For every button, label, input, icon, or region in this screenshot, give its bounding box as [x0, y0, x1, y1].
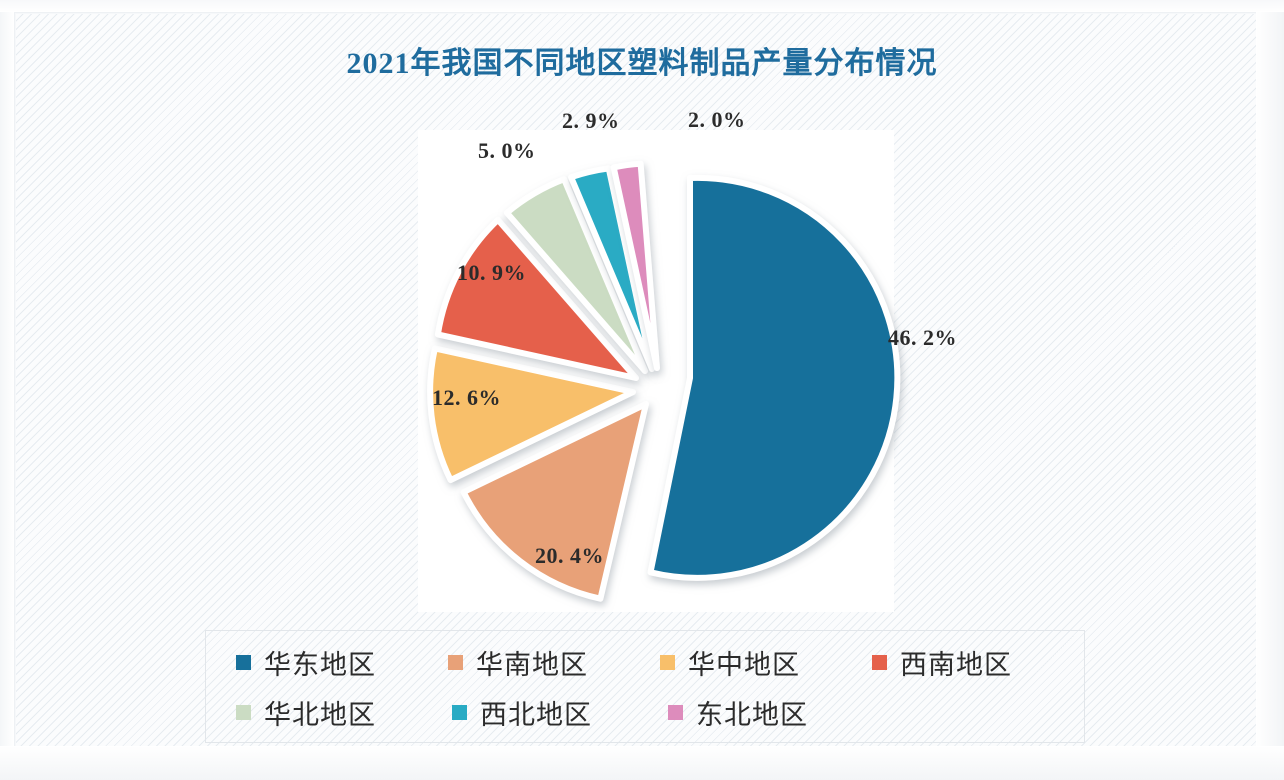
slice-label-huanan: 20. 4%	[535, 543, 604, 569]
legend-label: 华东地区	[264, 643, 376, 682]
page-edge-left	[0, 0, 14, 780]
legend-swatch-icon	[872, 655, 887, 670]
legend-label: 华北地区	[264, 693, 376, 732]
slice-label-huabei: 5. 0%	[478, 138, 536, 164]
legend-item-huabei[interactable]: 华北地区	[236, 693, 452, 732]
page-edge-right	[1256, 0, 1284, 780]
legend-swatch-icon	[236, 655, 251, 670]
legend-swatch-icon	[448, 655, 463, 670]
legend-swatch-icon	[660, 655, 675, 670]
chart-legend: 华东地区 华南地区 华中地区 西南地区 华北地区 西北地区	[205, 630, 1085, 743]
pie-svg	[400, 100, 1020, 630]
legend-swatch-icon	[236, 705, 251, 720]
legend-swatch-icon	[452, 705, 467, 720]
legend-label: 华中地区	[688, 643, 800, 682]
legend-item-xibei[interactable]: 西北地区	[452, 693, 668, 732]
legend-row-1: 华东地区 华南地区 华中地区 西南地区	[206, 637, 1084, 687]
legend-item-xinan[interactable]: 西南地区	[872, 643, 1084, 682]
legend-item-huazhong[interactable]: 华中地区	[660, 643, 872, 682]
page-edge-bottom	[0, 746, 1284, 780]
pie-chart: 46. 2% 20. 4% 12. 6% 10. 9% 5. 0% 2. 9% …	[400, 100, 1020, 630]
pie-slice-huadong[interactable]	[651, 178, 898, 578]
slice-label-xinan: 10. 9%	[457, 260, 526, 286]
slice-label-dongbei: 2. 0%	[688, 107, 746, 133]
legend-label: 西南地区	[900, 643, 1012, 682]
legend-label: 华南地区	[476, 643, 588, 682]
slice-label-xibei: 2. 9%	[562, 108, 620, 134]
page-edge-top	[0, 0, 1284, 12]
legend-item-huadong[interactable]: 华东地区	[236, 643, 448, 682]
legend-label: 西北地区	[480, 693, 592, 732]
legend-row-2: 华北地区 西北地区 东北地区	[206, 687, 1084, 737]
slice-label-huadong: 46. 2%	[888, 325, 957, 351]
slice-label-huazhong: 12. 6%	[432, 385, 501, 411]
legend-label: 东北地区	[696, 693, 808, 732]
legend-item-dongbei[interactable]: 东北地区	[668, 693, 884, 732]
chart-page: 2021年我国不同地区塑料制品产量分布情况 46. 2%	[0, 0, 1284, 780]
chart-title: 2021年我国不同地区塑料制品产量分布情况	[0, 38, 1284, 82]
legend-swatch-icon	[668, 705, 683, 720]
legend-item-huanan[interactable]: 华南地区	[448, 643, 660, 682]
